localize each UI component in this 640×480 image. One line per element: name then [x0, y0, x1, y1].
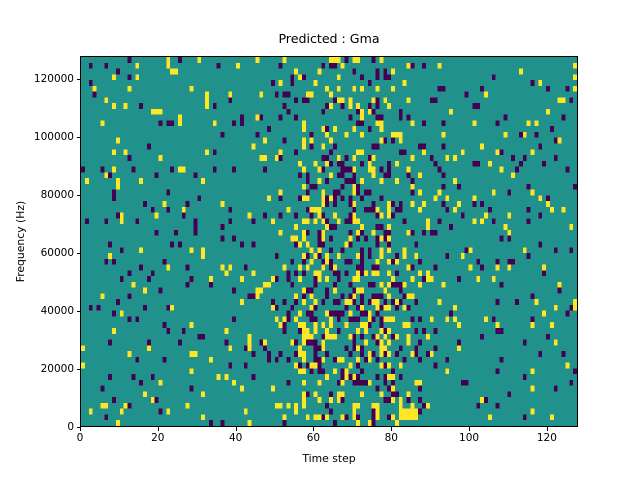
x-tick-mark	[158, 427, 159, 431]
y-tick-mark	[77, 311, 81, 312]
x-tick-mark	[547, 427, 548, 431]
x-axis-label: Time step	[80, 452, 578, 465]
x-tick-label: 60	[307, 432, 320, 444]
x-tick-mark	[236, 427, 237, 431]
y-tick-label: 80000	[41, 189, 74, 201]
x-tick-label: 20	[151, 432, 164, 444]
x-tick-mark	[469, 427, 470, 431]
x-tick-label: 80	[385, 432, 398, 444]
matplotlib-figure: Predicted : Gma 020406080100120 02000040…	[0, 0, 640, 480]
x-tick-mark	[80, 427, 81, 431]
x-tick-label: 120	[537, 432, 557, 444]
chart-title: Predicted : Gma	[80, 31, 578, 47]
y-tick-label: 20000	[41, 363, 74, 375]
y-axis-label: Frequency (Hz)	[14, 56, 30, 427]
x-tick-label: 0	[77, 432, 84, 444]
y-tick-label: 100000	[34, 131, 74, 143]
y-tick-label: 0	[67, 421, 74, 433]
y-tick-mark	[77, 253, 81, 254]
x-tick-label: 100	[459, 432, 479, 444]
heatmap-image	[81, 57, 577, 426]
y-tick-label: 120000	[34, 73, 74, 85]
y-tick-mark	[77, 427, 81, 428]
y-tick-mark	[77, 195, 81, 196]
heatmap-axes	[80, 56, 578, 427]
y-tick-mark	[77, 79, 81, 80]
x-tick-label: 40	[229, 432, 242, 444]
x-tick-mark	[391, 427, 392, 431]
y-tick-mark	[77, 369, 81, 370]
x-tick-mark	[313, 427, 314, 431]
y-tick-label: 40000	[41, 305, 74, 317]
y-tick-label: 60000	[41, 247, 74, 259]
y-tick-mark	[77, 137, 81, 138]
